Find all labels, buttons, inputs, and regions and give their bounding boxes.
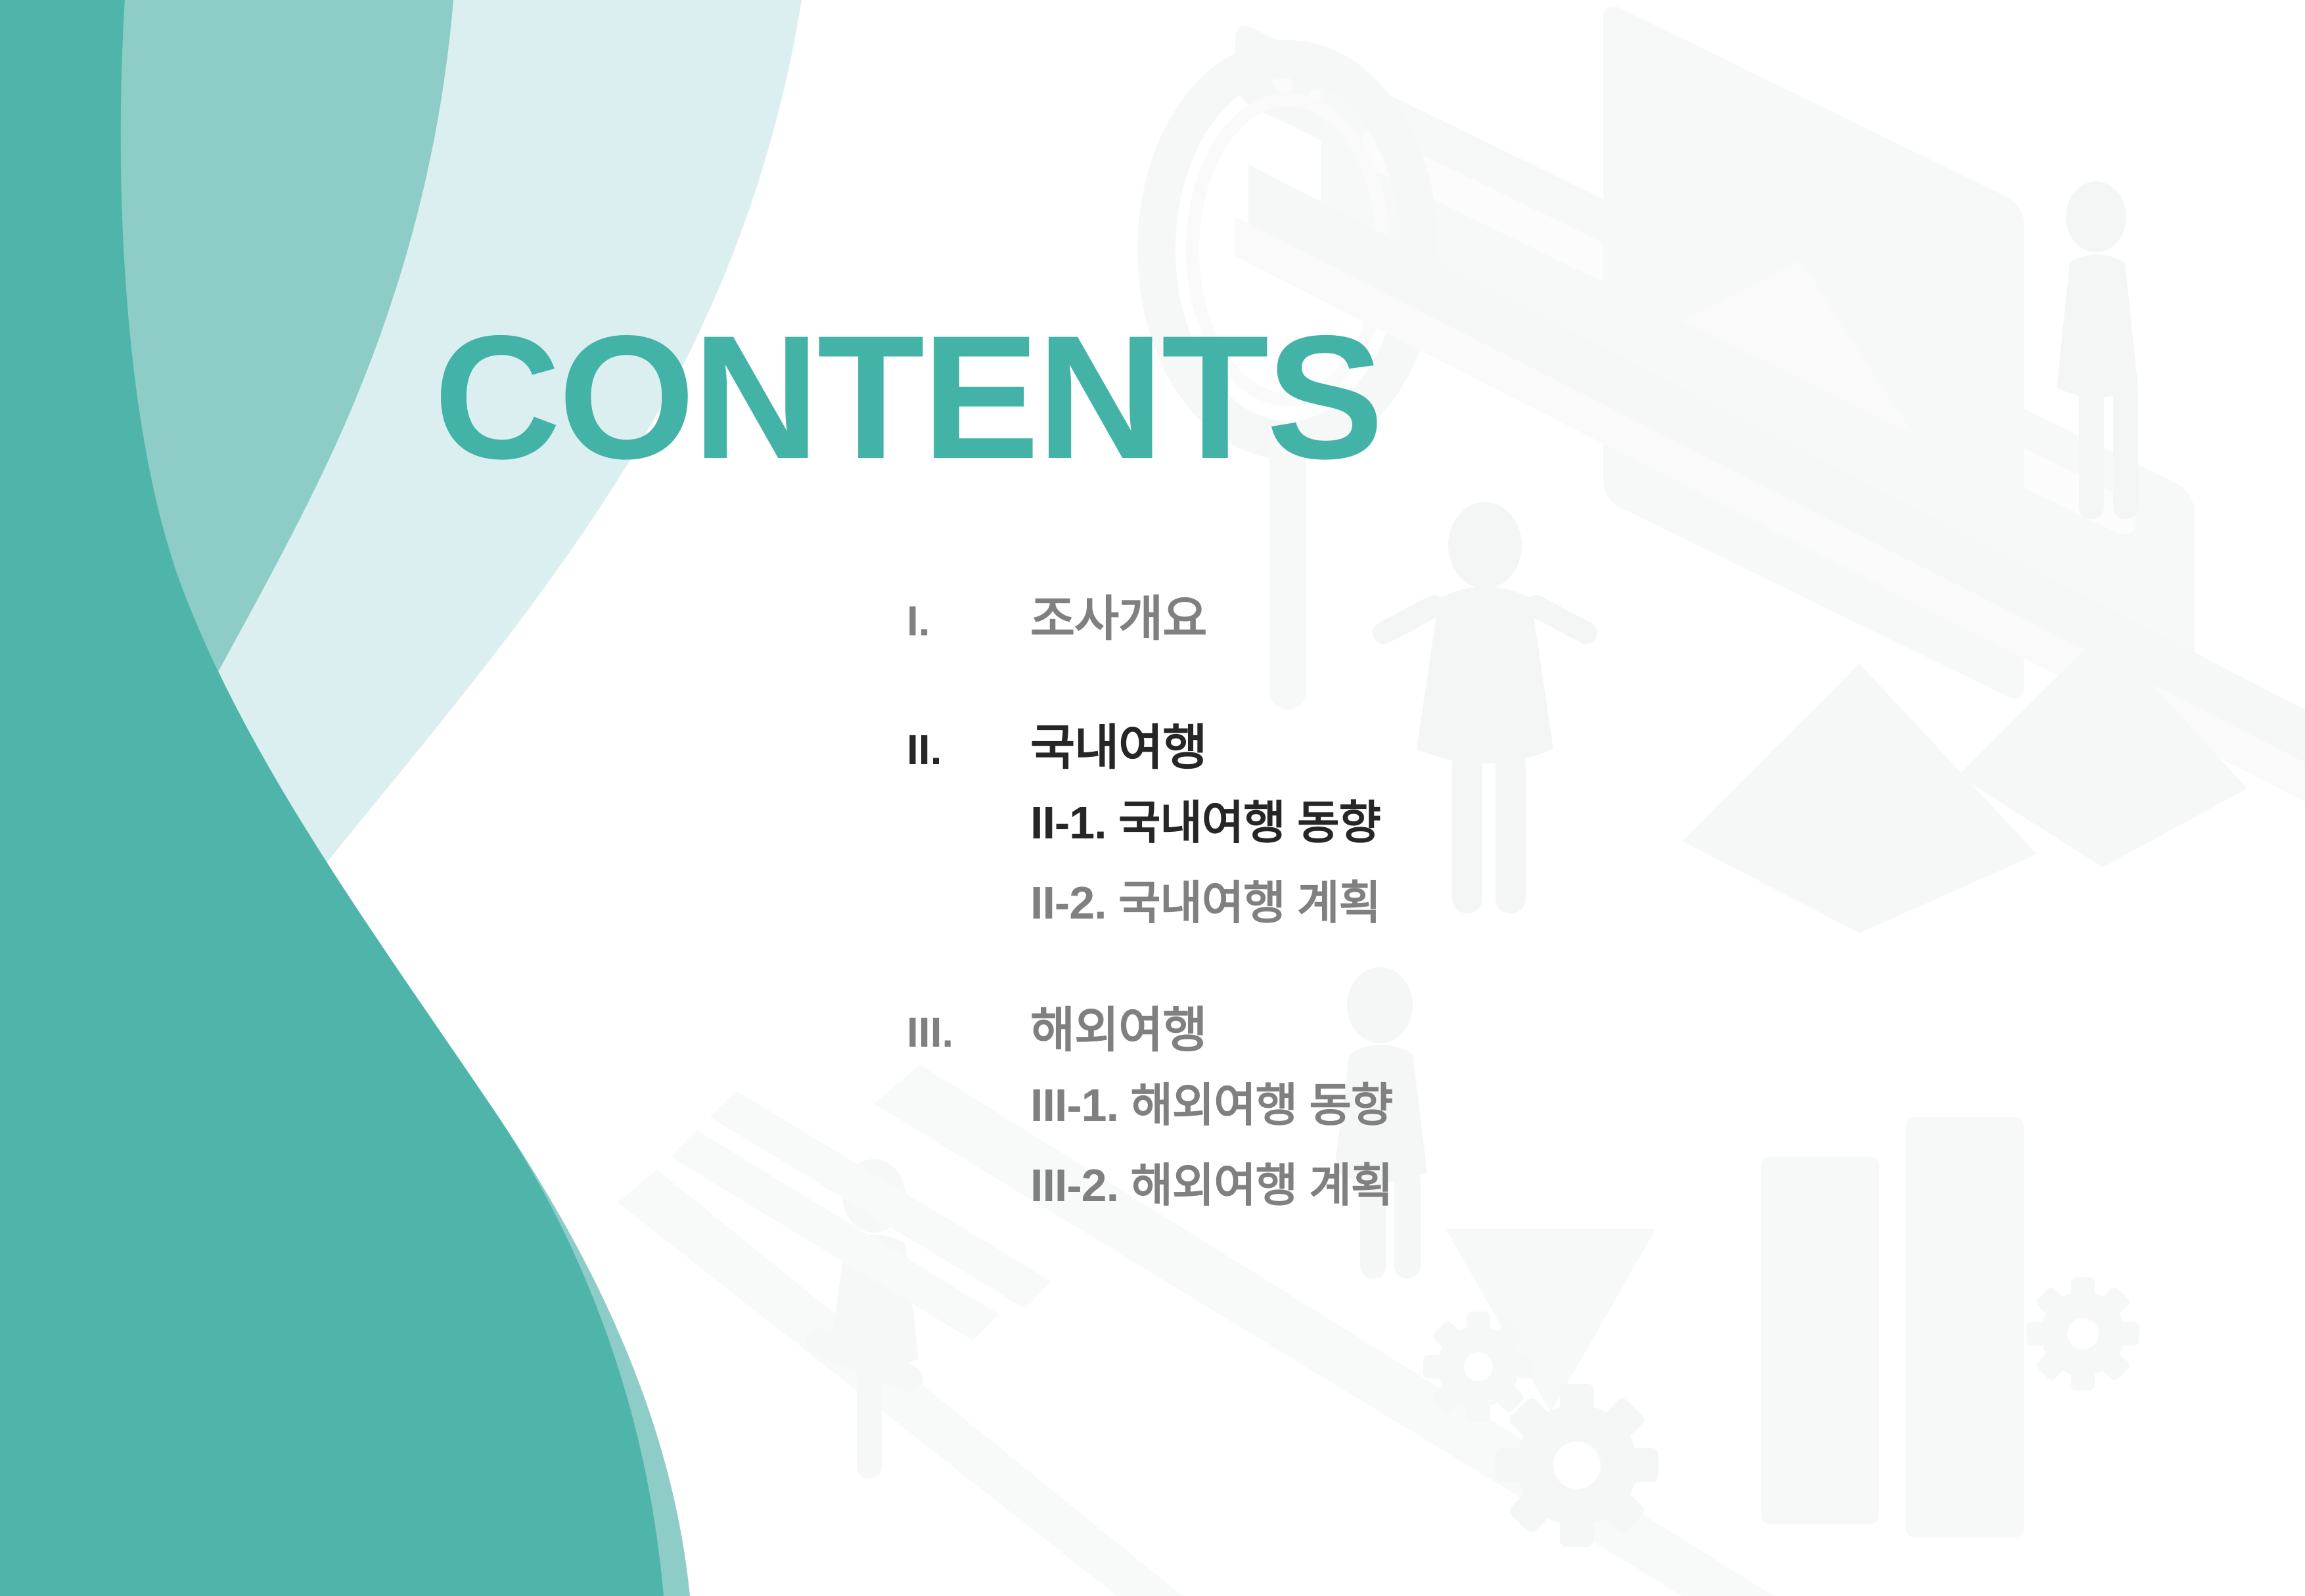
agenda-subitem-3-1-label: III-1. 해외여행 동향	[1030, 1082, 1392, 1128]
agenda-item-1-number: I.	[907, 600, 1030, 642]
agenda-list: I. 조사개요 II. 국내여행 II-1. 국내여행 동향 II-2. 국내여…	[907, 595, 2089, 1208]
slide-canvas: CONTENTS I. 조사개요 II. 국내여행 II-1. 국내여행 동향 …	[0, 0, 2305, 1596]
agenda-spacer-1	[907, 643, 2089, 723]
agenda-item-2[interactable]: II. 국내여행	[907, 723, 2089, 772]
agenda-subitem-3-2-label: III-2. 해외여행 계획	[1030, 1162, 1392, 1208]
agenda-spacer-3	[907, 846, 2089, 880]
agenda-spacer-2	[907, 772, 2089, 800]
agenda-item-2-label: 국내여행	[1030, 723, 1206, 772]
agenda-subitem-2-2-label: II-2. 국내여행 계획	[1030, 880, 1381, 926]
agenda-subitem-2-1[interactable]: II-1. 국내여행 동향	[907, 800, 2089, 846]
agenda-subitem-3-2[interactable]: III-2. 해외여행 계획	[907, 1162, 2089, 1208]
agenda-item-3-label: 해외여행	[1030, 1006, 1206, 1055]
agenda-spacer-4	[907, 926, 2089, 1006]
agenda-item-3-number: III.	[907, 1011, 1030, 1053]
agenda-item-3[interactable]: III. 해외여행	[907, 1006, 2089, 1055]
agenda-item-1[interactable]: I. 조사개요	[907, 595, 2089, 643]
agenda-spacer-6	[907, 1128, 2089, 1162]
agenda-spacer-5	[907, 1055, 2089, 1082]
agenda-subitem-2-1-label: II-1. 국내여행 동향	[1030, 800, 1381, 846]
agenda-item-1-label: 조사개요	[1030, 595, 1206, 643]
agenda-item-2-number: II.	[907, 729, 1030, 771]
page-title: CONTENTS	[434, 309, 1381, 485]
agenda-subitem-3-1[interactable]: III-1. 해외여행 동향	[907, 1082, 2089, 1128]
agenda-subitem-2-2[interactable]: II-2. 국내여행 계획	[907, 880, 2089, 926]
